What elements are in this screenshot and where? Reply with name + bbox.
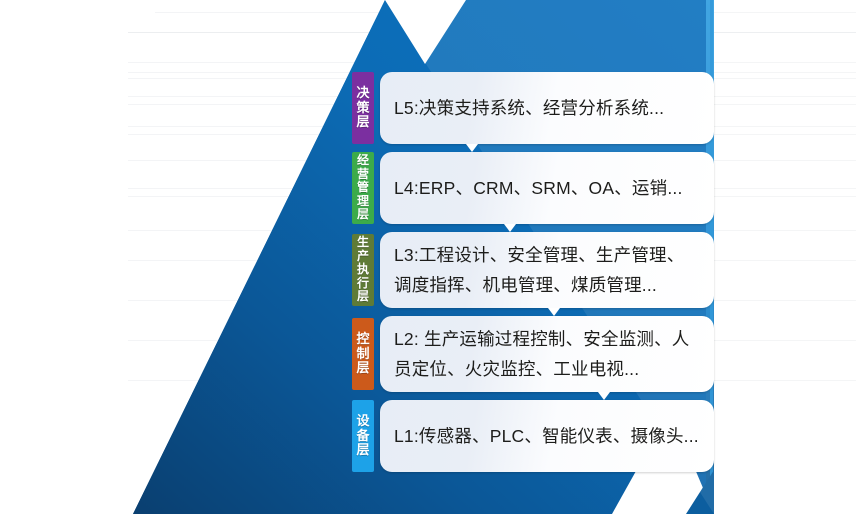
- level-tab-label-l2-c0: 控制层: [356, 332, 369, 376]
- level-tab-l3: 生产执行层: [352, 234, 374, 306]
- level-card-l4[interactable]: L4:ERP、CRM、SRM、OA、运销...: [380, 152, 714, 224]
- level-tab-label-l5-c0: 决策层: [356, 86, 369, 130]
- level-card-text-l3: L3:工程设计、安全管理、生产管理、调度指挥、机电管理、煤质管理...: [394, 240, 700, 300]
- level-tab-l5: 决策层: [352, 72, 374, 144]
- level-tab-l4: 经营管理层: [352, 152, 374, 224]
- level-tab-label-l3-c0: 生产执行层: [357, 236, 369, 304]
- level-card-l5[interactable]: L5:决策支持系统、经营分析系统...: [380, 72, 714, 144]
- pyramid-level-l5[interactable]: 决策层 L5:决策支持系统、经营分析系统...: [352, 72, 714, 144]
- connector-arrow-l3: [548, 308, 560, 316]
- pyramid-level-l4[interactable]: 经营管理层 L4:ERP、CRM、SRM、OA、运销...: [352, 152, 714, 224]
- level-tab-label-l4-c0: 经营管理层: [357, 154, 369, 222]
- pyramid-levels: 决策层 L5:决策支持系统、经营分析系统... 经营管理层 L4:ERP、CRM…: [352, 72, 714, 472]
- level-tab-label-l1-c0: 设备层: [356, 414, 369, 458]
- level-card-l2[interactable]: L2: 生产运输过程控制、安全监测、人员定位、火灾监控、工业电视...: [380, 316, 714, 392]
- connector-arrow-l5: [466, 144, 478, 152]
- level-card-text-l5: L5:决策支持系统、经营分析系统...: [394, 93, 664, 123]
- connector-arrow-l2: [598, 392, 610, 400]
- level-card-text-l1: L1:传感器、PLC、智能仪表、摄像头...: [394, 421, 699, 451]
- level-card-l3[interactable]: L3:工程设计、安全管理、生产管理、调度指挥、机电管理、煤质管理...: [380, 232, 714, 308]
- pyramid-diagram-canvas: 决策层 L5:决策支持系统、经营分析系统... 经营管理层 L4:ERP、CRM…: [0, 0, 856, 514]
- level-card-l1[interactable]: L1:传感器、PLC、智能仪表、摄像头...: [380, 400, 714, 472]
- pyramid-level-l3[interactable]: 生产执行层 L3:工程设计、安全管理、生产管理、调度指挥、机电管理、煤质管理..…: [352, 232, 714, 308]
- pyramid-level-l1[interactable]: 设备层 L1:传感器、PLC、智能仪表、摄像头...: [352, 400, 714, 472]
- pyramid-level-l2[interactable]: 控制层 L2: 生产运输过程控制、安全监测、人员定位、火灾监控、工业电视...: [352, 316, 714, 392]
- connector-arrow-l4: [504, 224, 516, 232]
- level-tab-l1: 设备层: [352, 400, 374, 472]
- level-card-text-l2: L2: 生产运输过程控制、安全监测、人员定位、火灾监控、工业电视...: [394, 324, 700, 384]
- level-tab-l2: 控制层: [352, 318, 374, 390]
- level-card-text-l4: L4:ERP、CRM、SRM、OA、运销...: [394, 173, 683, 203]
